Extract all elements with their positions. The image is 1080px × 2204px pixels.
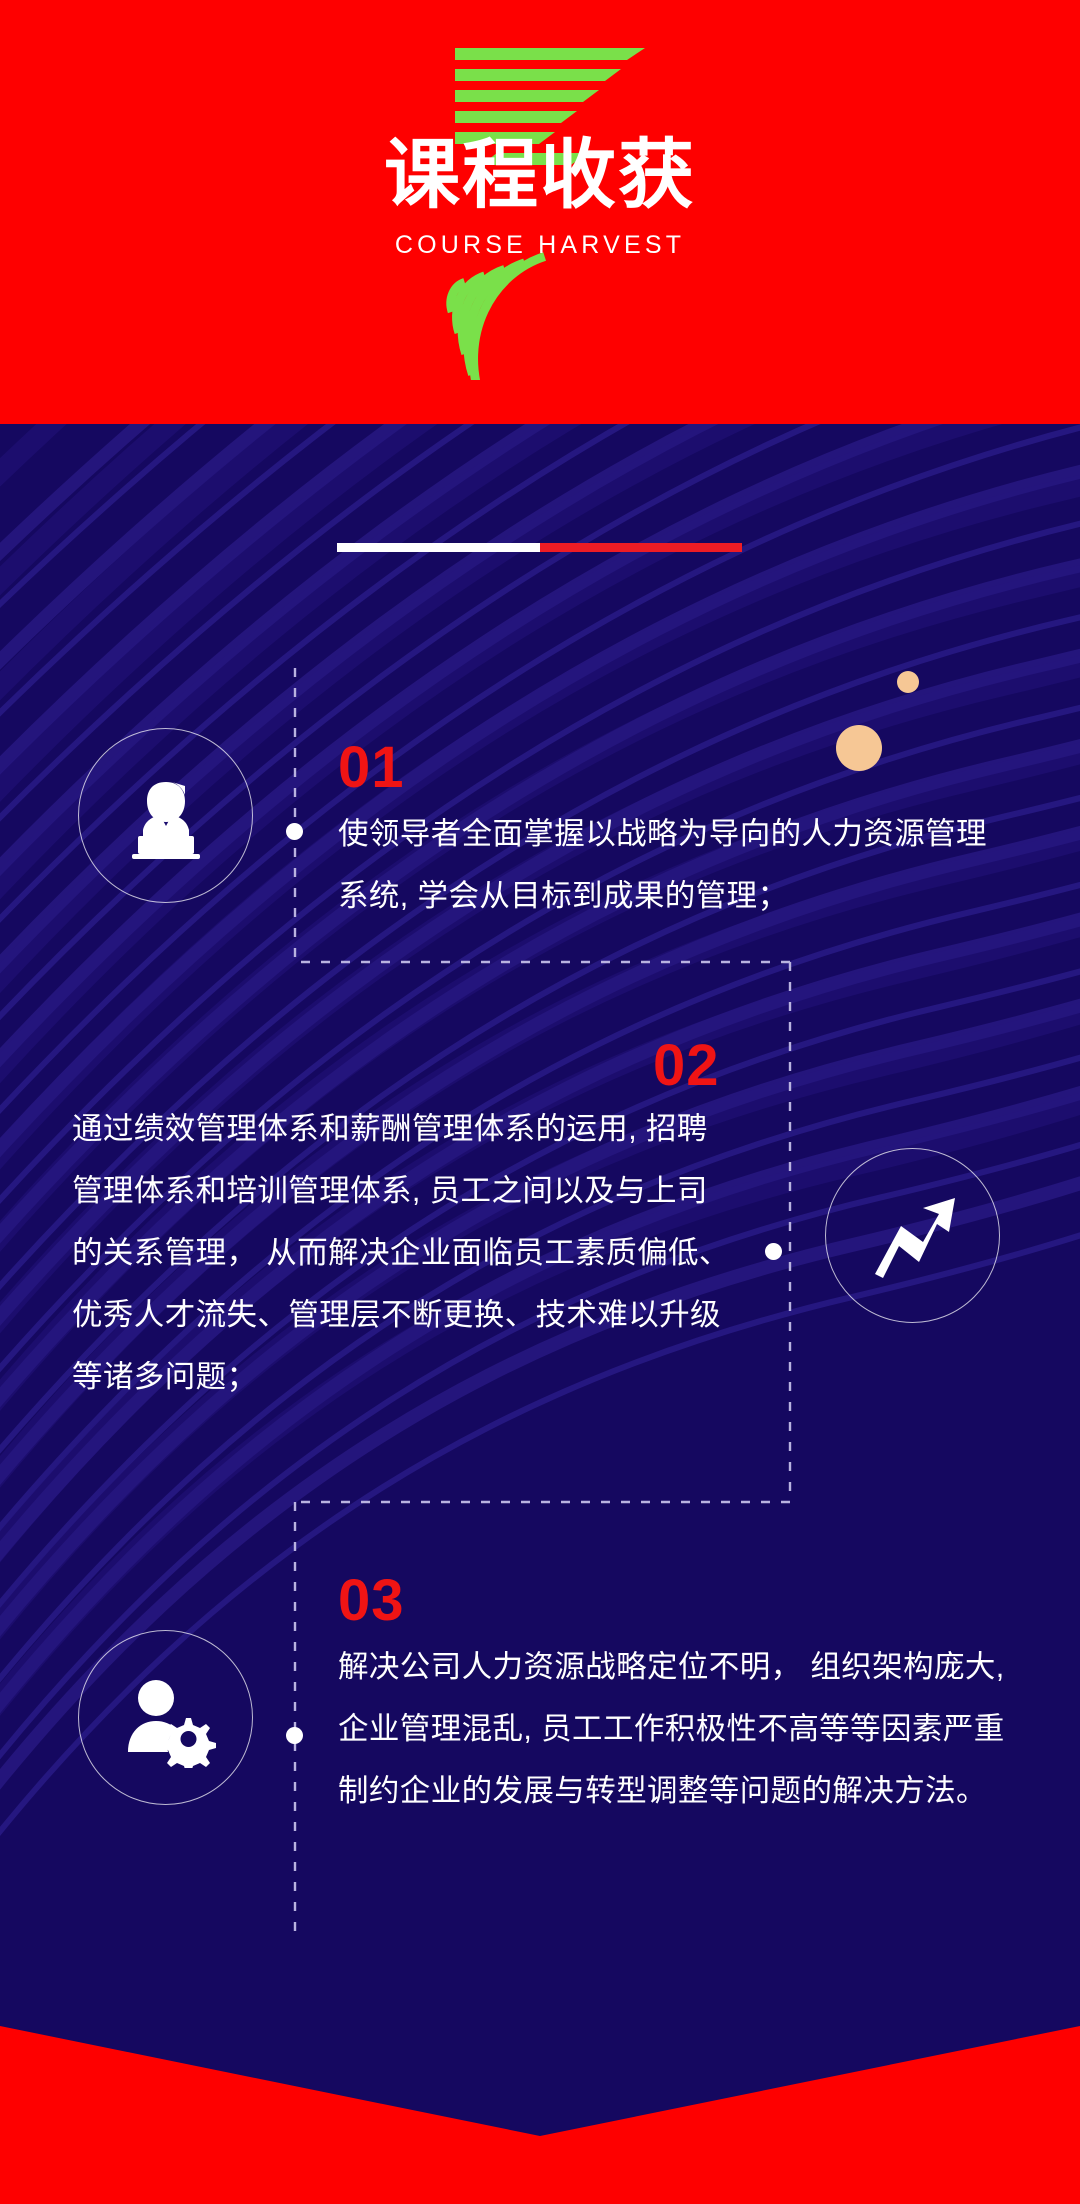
item-text-1: 使领导者全面掌握以战略为导向的人力资源管理系统, 学会从目标到成果的管理； [338,803,1006,927]
item-icon-growth-arrow [825,1148,1000,1323]
decorative-blob-large [836,725,882,771]
item-number-3: 03 [338,1572,405,1630]
item-bullet-dot-2 [765,1243,782,1260]
item-bullet-dot-3 [286,1727,303,1744]
items-list: 01 使领导者全面掌握以战略为导向的人力资源管理系统, 学会从目标到成果的管理；… [0,0,1080,2204]
item-icon-user-settings [78,1630,253,1805]
growth-arrow-icon [861,1184,965,1288]
user-settings-gear-icon [116,1668,216,1768]
item-bullet-dot-1 [286,823,303,840]
footer-chevron [0,1974,1080,2204]
item-number-2: 02 [653,1037,720,1095]
decorative-blob-small [897,671,919,693]
item-text-3: 解决公司人力资源战略定位不明， 组织架构庞大, 企业管理混乱, 员工工作积极性不… [338,1636,1006,1822]
item-text-2: 通过绩效管理体系和薪酬管理体系的运用, 招聘管理体系和培训管理体系, 员工之间以… [72,1098,734,1408]
item-icon-person-at-desk [78,728,253,903]
person-at-desk-icon [118,768,214,864]
item-number-1: 01 [338,739,405,797]
poster-page: 课程收获 COURSE HARVEST [0,0,1080,2204]
